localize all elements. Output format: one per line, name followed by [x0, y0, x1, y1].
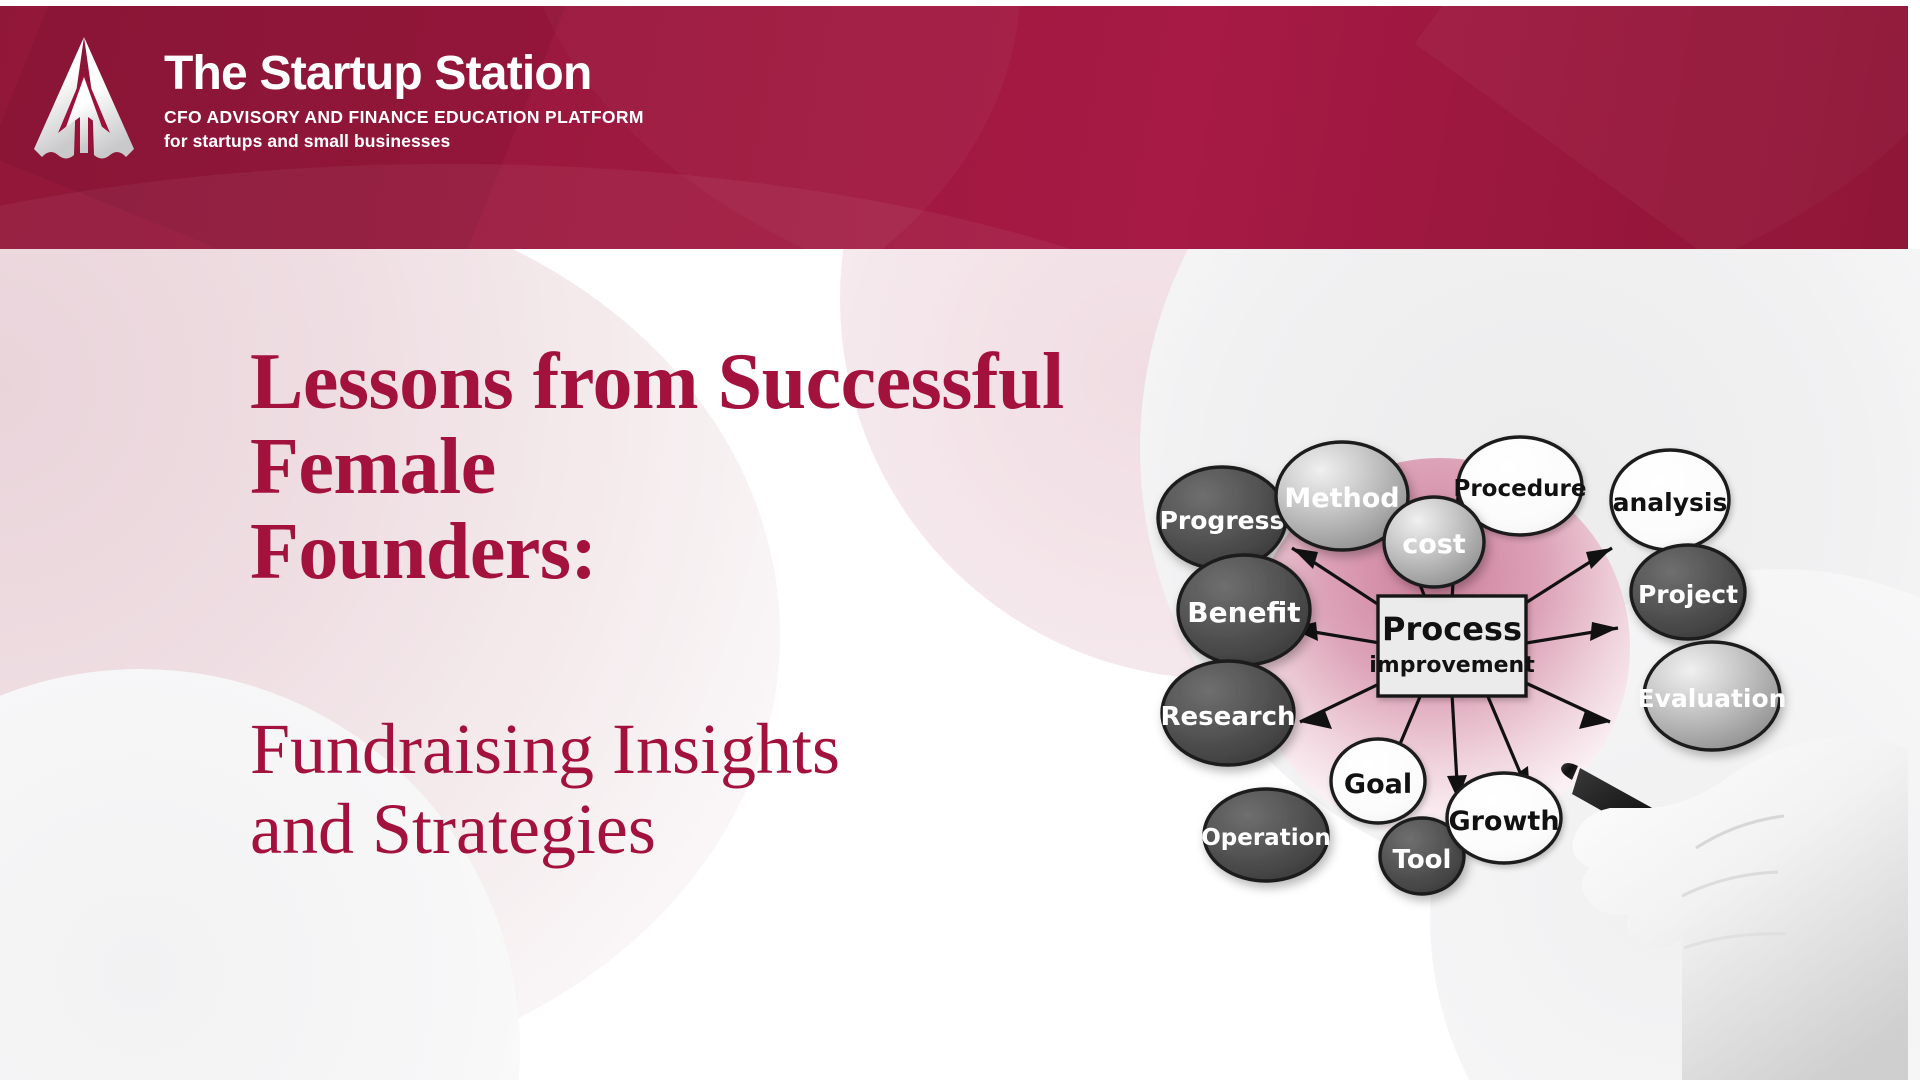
process-improvement-diagram: Process improvement Progress Method Proc…	[1140, 248, 1908, 1080]
diagram-node-label: Benefit	[1187, 596, 1300, 629]
slide-canvas: The Startup Station CFO ADVISORY AND FIN…	[0, 0, 1920, 1080]
diagram-node-analysis: analysis	[1611, 450, 1729, 550]
brand-logo-lockup[interactable]: The Startup Station CFO ADVISORY AND FIN…	[22, 31, 644, 177]
page-subtitle-line2: and Strategies	[250, 789, 656, 869]
diagram-node-operation: Operation	[1201, 789, 1331, 881]
hand-with-pen-icon	[1561, 736, 1908, 1080]
diagram-node-label: Research	[1160, 702, 1295, 732]
diagram-node-project: Project	[1631, 545, 1745, 639]
diagram-center-label-1: Process	[1382, 610, 1522, 648]
page-subtitle-line1: Fundraising Insights	[250, 709, 840, 789]
diagram-node-growth: Growth	[1447, 773, 1561, 863]
diagram-node-label: Evaluation	[1638, 684, 1787, 713]
diagram-center-label-2: improvement	[1369, 653, 1535, 678]
page-title-line2: Founders:	[250, 508, 597, 596]
diagram-node-cost: cost	[1384, 497, 1484, 587]
diagram-node-evaluation: Evaluation	[1638, 642, 1787, 750]
diagram-node-benefit: Benefit	[1178, 555, 1310, 665]
diagram-node-label: Growth	[1448, 806, 1559, 837]
diagram-node-label: Method	[1284, 483, 1399, 514]
diagram-node-goal: Goal	[1331, 739, 1425, 823]
page-subtitle: Fundraising Insights and Strategies	[250, 710, 1260, 870]
diagram-node-progress: Progress	[1158, 467, 1286, 569]
page-title: Lessons from Successful Female Founders:	[250, 340, 1260, 594]
mindmap-illustration: Process improvement Progress Method Proc…	[1140, 248, 1908, 1080]
brand-logo-text: The Startup Station CFO ADVISORY AND FIN…	[164, 50, 644, 159]
diagram-node-label: Tool	[1393, 845, 1452, 875]
diagram-node-label: cost	[1402, 529, 1466, 560]
diagram-node-label: Operation	[1201, 825, 1331, 851]
diagram-node-label: Goal	[1344, 769, 1412, 800]
brand-tagline-line1: CFO ADVISORY AND FINANCE EDUCATION PLATF…	[164, 107, 644, 128]
page-title-line1: Lessons from Successful Female	[250, 338, 1064, 511]
brand-tagline-line2: for startups and small businesses	[164, 131, 644, 152]
diagram-center-card: Process improvement	[1369, 596, 1535, 696]
diagram-node-label: Procedure	[1453, 476, 1586, 502]
brand-name: The Startup Station	[164, 50, 644, 99]
brand-banner: The Startup Station CFO ADVISORY AND FIN…	[0, 6, 1908, 249]
title-block: Lessons from Successful Female Founders:…	[250, 340, 1260, 870]
rocket-arrow-icon	[22, 31, 146, 177]
diagram-node-research: Research	[1160, 661, 1295, 765]
diagram-node-label: Progress	[1160, 506, 1285, 535]
diagram-node-label: Project	[1638, 580, 1738, 609]
diagram-node-label: analysis	[1613, 488, 1728, 517]
